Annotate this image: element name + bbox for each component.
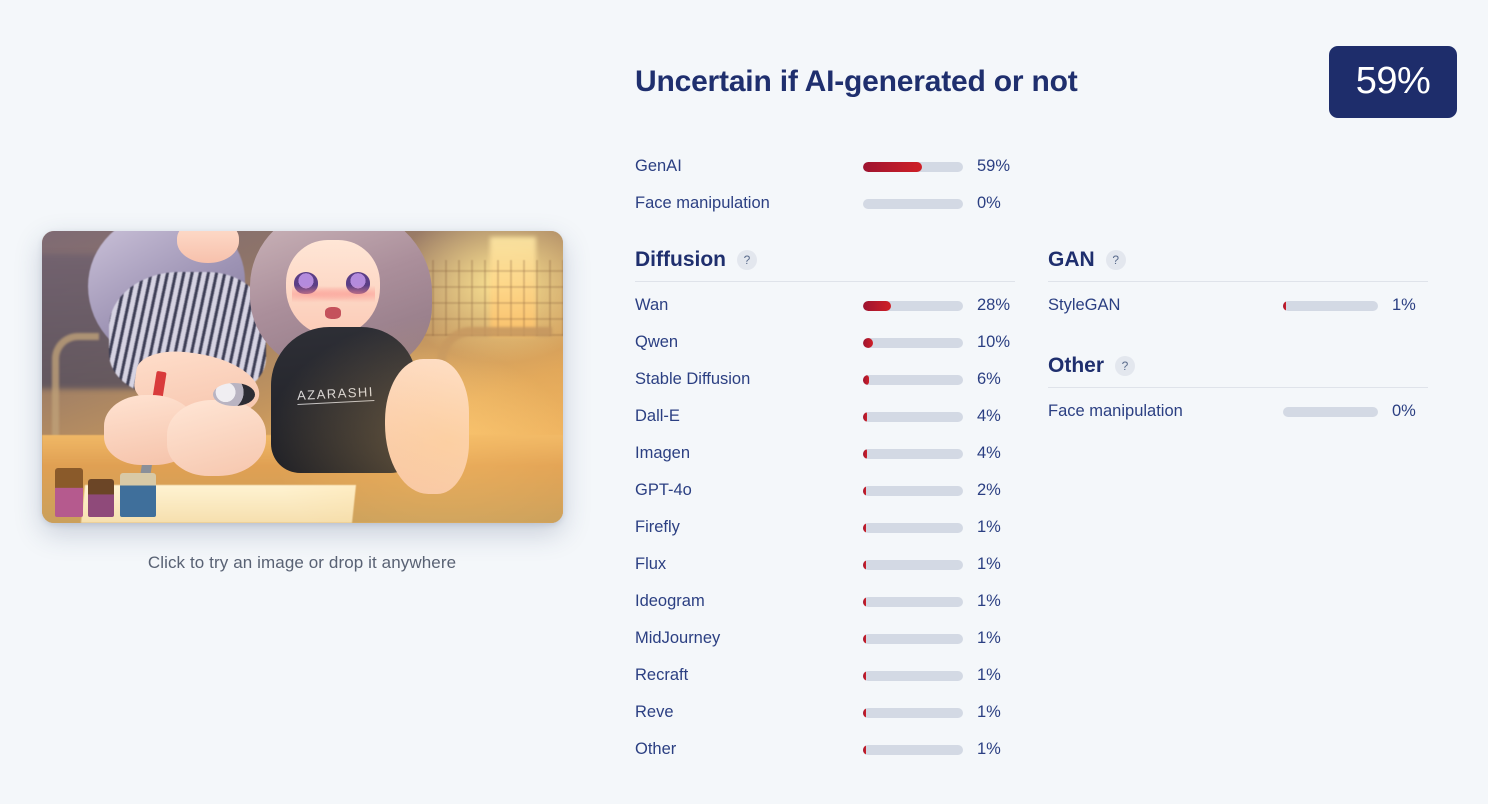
score-row-label: GPT-4o bbox=[635, 481, 863, 500]
section-title: Diffusion bbox=[635, 248, 726, 272]
summary-list: GenAI59%Face manipulation0% bbox=[635, 148, 1015, 222]
score-bar-fill bbox=[863, 162, 922, 172]
help-icon[interactable]: ? bbox=[1115, 356, 1135, 376]
score-row: Face manipulation0% bbox=[635, 185, 1015, 222]
diffusion-section-header: Diffusion ? bbox=[635, 248, 1015, 281]
score-row: Reve1% bbox=[635, 694, 1015, 731]
gan-other-column: GAN ? StyleGAN1% Other ? Face manipulati… bbox=[1048, 248, 1428, 430]
score-row-percent: 1% bbox=[977, 518, 1023, 537]
score-bar-fill bbox=[863, 486, 866, 496]
score-row-label: Qwen bbox=[635, 333, 863, 352]
diffusion-rows: Wan28%Qwen10%Stable Diffusion6%Dall-E4%I… bbox=[635, 287, 1015, 768]
score-row-percent: 6% bbox=[977, 370, 1023, 389]
score-bar-fill bbox=[863, 560, 866, 570]
score-row-label: Ideogram bbox=[635, 592, 863, 611]
score-row-label: Wan bbox=[635, 296, 863, 315]
score-bar-track bbox=[863, 338, 963, 348]
score-row-label: Other bbox=[635, 740, 863, 759]
image-dropzone-pane: AZARASHI Click to try an image or drop i… bbox=[0, 0, 604, 804]
score-badge: 59% bbox=[1329, 46, 1457, 118]
score-row-label: Face manipulation bbox=[1048, 402, 1283, 421]
score-row-percent: 1% bbox=[977, 555, 1023, 574]
dropzone-caption[interactable]: Click to try an image or drop it anywher… bbox=[148, 553, 456, 573]
help-icon[interactable]: ? bbox=[1106, 250, 1126, 270]
score-row: Imagen4% bbox=[635, 435, 1015, 472]
score-bar-track bbox=[863, 634, 963, 644]
gan-rows: StyleGAN1% bbox=[1048, 287, 1428, 324]
score-row: Flux1% bbox=[635, 546, 1015, 583]
score-row: Ideogram1% bbox=[635, 583, 1015, 620]
score-row-percent: 1% bbox=[1392, 296, 1438, 315]
score-row-percent: 4% bbox=[977, 407, 1023, 426]
help-icon[interactable]: ? bbox=[737, 250, 757, 270]
score-bar-track bbox=[863, 412, 963, 422]
other-rows: Face manipulation0% bbox=[1048, 393, 1428, 430]
score-row-label: Reve bbox=[635, 703, 863, 722]
score-row: Recraft1% bbox=[635, 657, 1015, 694]
gan-section-header: GAN ? bbox=[1048, 248, 1428, 281]
score-row: Wan28% bbox=[635, 287, 1015, 324]
score-row-percent: 1% bbox=[977, 666, 1023, 685]
score-row: Qwen10% bbox=[635, 324, 1015, 361]
score-bar-fill bbox=[863, 301, 891, 311]
score-row-percent: 0% bbox=[977, 194, 1023, 213]
score-bar-fill bbox=[863, 708, 866, 718]
section-divider bbox=[1048, 281, 1428, 282]
app-root: AZARASHI Click to try an image or drop i… bbox=[0, 0, 1488, 804]
score-row-percent: 2% bbox=[977, 481, 1023, 500]
score-row: Other1% bbox=[635, 731, 1015, 768]
score-row-percent: 1% bbox=[977, 592, 1023, 611]
score-row-label: Recraft bbox=[635, 666, 863, 685]
score-row-label: Dall-E bbox=[635, 407, 863, 426]
score-row-percent: 59% bbox=[977, 157, 1023, 176]
score-row: Stable Diffusion6% bbox=[635, 361, 1015, 398]
score-row-percent: 1% bbox=[977, 703, 1023, 722]
score-bar-track bbox=[863, 449, 963, 459]
score-row-label: MidJourney bbox=[635, 629, 863, 648]
score-row-percent: 4% bbox=[977, 444, 1023, 463]
score-row-percent: 1% bbox=[977, 629, 1023, 648]
score-row-percent: 0% bbox=[1392, 402, 1438, 421]
section-divider bbox=[635, 281, 1015, 282]
score-row-label: StyleGAN bbox=[1048, 296, 1283, 315]
diffusion-column: Diffusion ? Wan28%Qwen10%Stable Diffusio… bbox=[635, 248, 1015, 768]
score-bar-fill bbox=[863, 449, 867, 459]
score-bar-track bbox=[863, 523, 963, 533]
results-pane: Uncertain if AI-generated or not 59% Gen… bbox=[604, 0, 1488, 804]
other-section-header: Other ? bbox=[1048, 354, 1428, 387]
score-bar-fill bbox=[863, 412, 867, 422]
score-row: GenAI59% bbox=[635, 148, 1015, 185]
score-bar-fill bbox=[863, 597, 866, 607]
verdict-title: Uncertain if AI-generated or not bbox=[635, 65, 1078, 99]
score-row: Dall-E4% bbox=[635, 398, 1015, 435]
score-bar-track bbox=[863, 162, 963, 172]
section-title: GAN bbox=[1048, 248, 1095, 272]
score-bar-fill bbox=[1283, 301, 1286, 311]
score-row-label: GenAI bbox=[635, 157, 863, 176]
score-row-label: Flux bbox=[635, 555, 863, 574]
score-row-percent: 10% bbox=[977, 333, 1023, 352]
score-row-percent: 1% bbox=[977, 740, 1023, 759]
score-bar-track bbox=[863, 745, 963, 755]
section-divider bbox=[1048, 387, 1428, 388]
score-row: GPT-4o2% bbox=[635, 472, 1015, 509]
shirt-logo-text: AZARASHI bbox=[296, 384, 374, 405]
uploaded-image-card[interactable]: AZARASHI bbox=[42, 231, 563, 523]
score-bar-track bbox=[863, 301, 963, 311]
score-row-label: Stable Diffusion bbox=[635, 370, 863, 389]
score-row: StyleGAN1% bbox=[1048, 287, 1428, 324]
score-bar-track bbox=[863, 671, 963, 681]
verdict-header: Uncertain if AI-generated or not 59% bbox=[635, 46, 1457, 118]
uploaded-image-preview: AZARASHI bbox=[42, 231, 563, 523]
score-bar-track bbox=[1283, 407, 1378, 417]
score-bar-track bbox=[863, 708, 963, 718]
score-bar-track bbox=[863, 199, 963, 209]
score-bar-track bbox=[863, 486, 963, 496]
score-row-percent: 28% bbox=[977, 296, 1023, 315]
score-row: Firefly1% bbox=[635, 509, 1015, 546]
score-bar-fill bbox=[863, 745, 866, 755]
score-bar-fill bbox=[863, 634, 866, 644]
score-bar-track bbox=[1283, 301, 1378, 311]
score-row-label: Imagen bbox=[635, 444, 863, 463]
score-bar-fill bbox=[863, 338, 873, 348]
score-bar-fill bbox=[863, 523, 866, 533]
score-bar-track bbox=[863, 375, 963, 385]
score-row: Face manipulation0% bbox=[1048, 393, 1428, 430]
score-row: MidJourney1% bbox=[635, 620, 1015, 657]
score-row-label: Face manipulation bbox=[635, 194, 863, 213]
score-bar-track bbox=[863, 597, 963, 607]
score-bar-fill bbox=[863, 375, 869, 385]
section-title: Other bbox=[1048, 354, 1104, 378]
score-row-label: Firefly bbox=[635, 518, 863, 537]
score-bar-fill bbox=[863, 671, 866, 681]
score-bar-track bbox=[863, 560, 963, 570]
